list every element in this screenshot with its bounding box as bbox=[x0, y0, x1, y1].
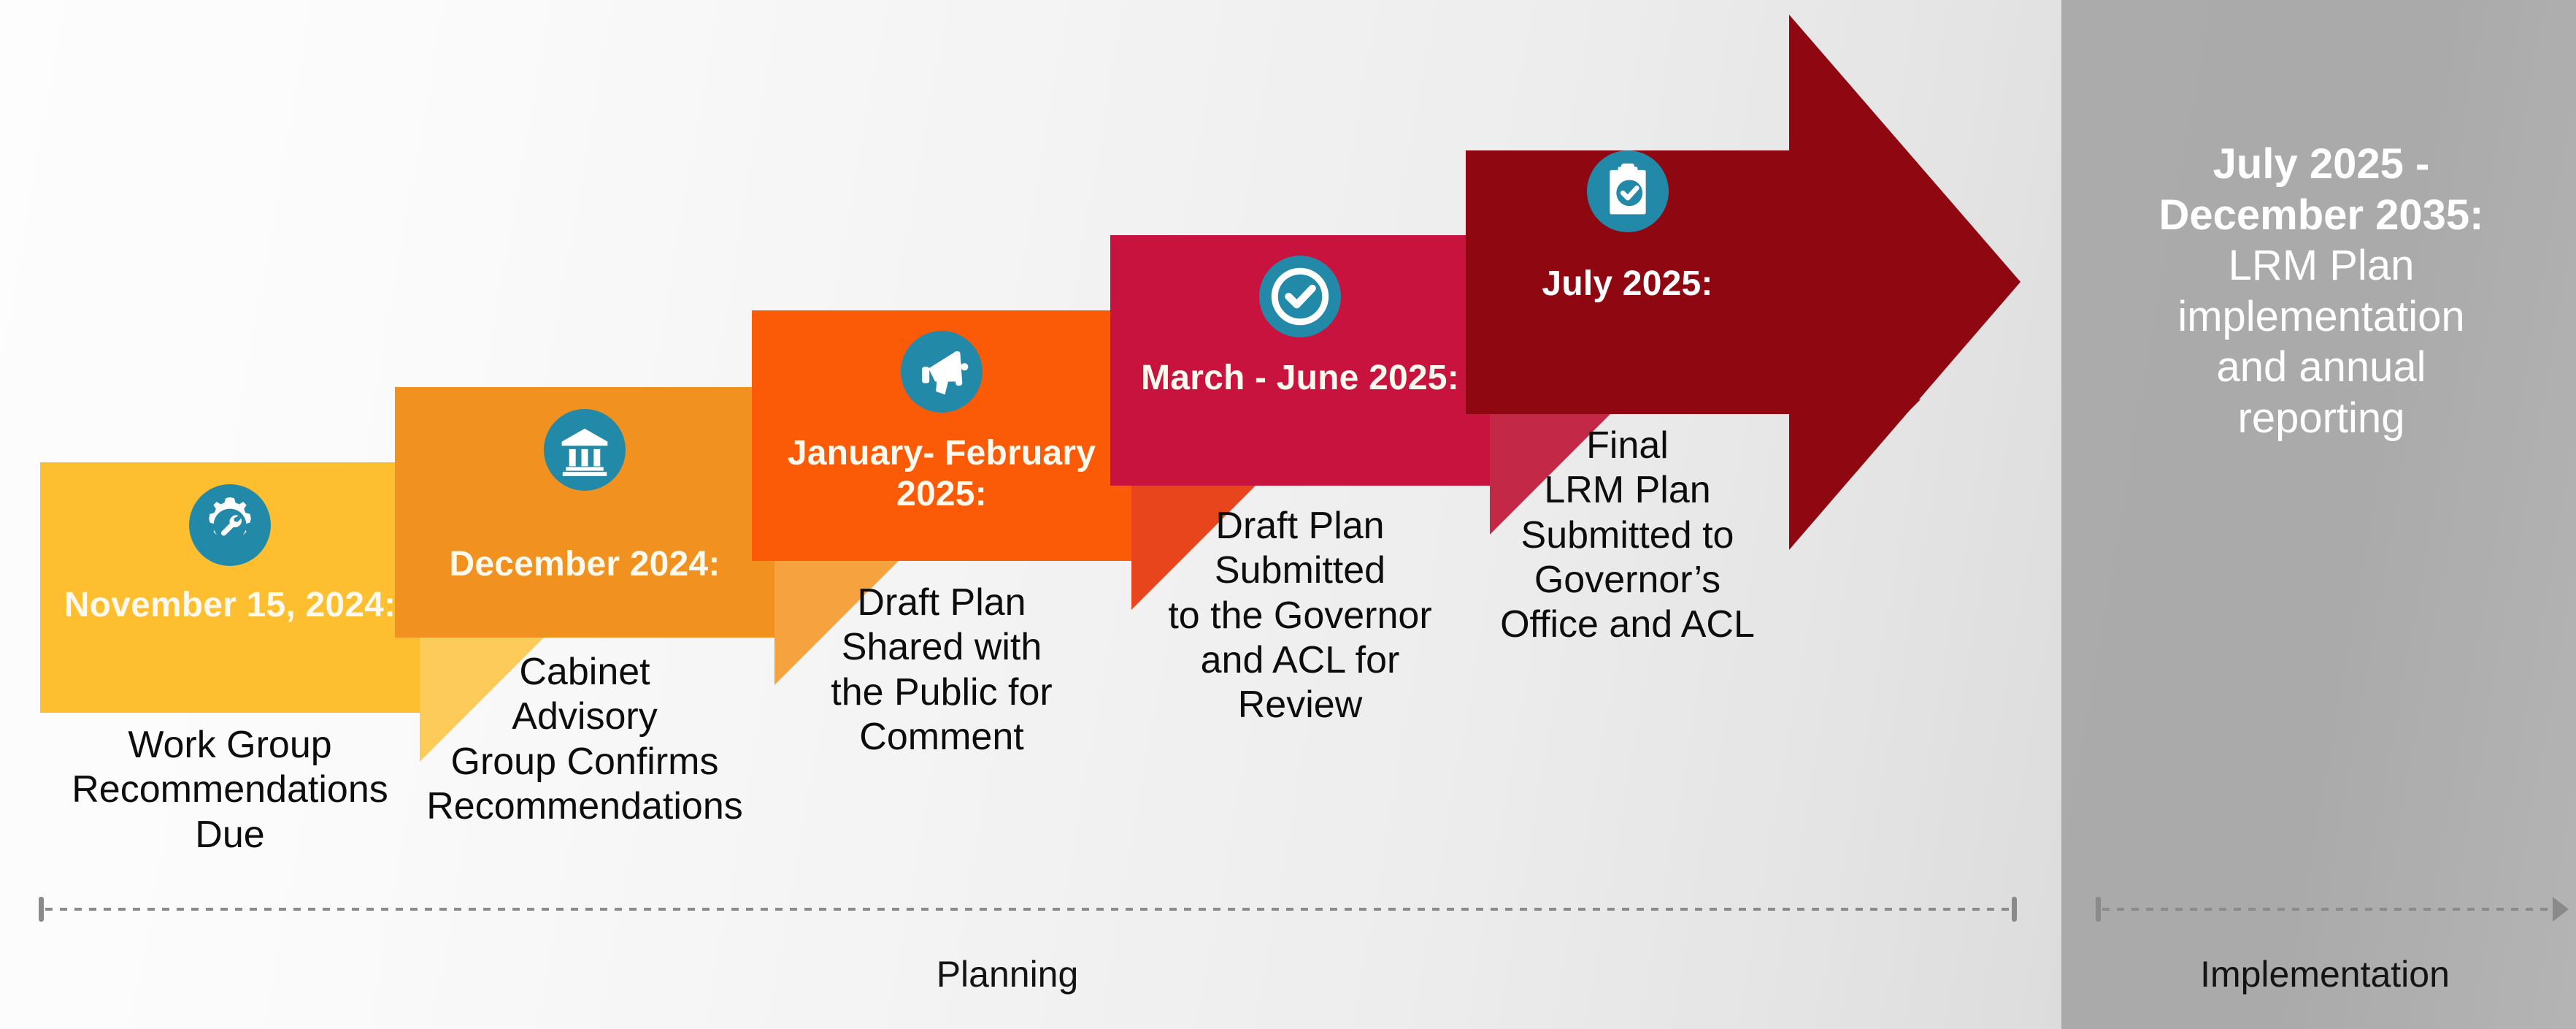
planning-axis-end-cap bbox=[2012, 897, 2017, 922]
government-building-icon bbox=[544, 409, 626, 491]
step-3-description: Draft Plan Shared with the Public for Co… bbox=[752, 581, 1131, 760]
planning-axis-line bbox=[45, 908, 2016, 911]
clipboard-check-icon bbox=[1587, 150, 1669, 232]
check-circle-icon bbox=[1259, 256, 1341, 337]
step-2-panel: December 2024: bbox=[395, 387, 774, 638]
implementation-label: Implementation bbox=[2142, 953, 2507, 995]
timeline-diagram: November 15, 2024: Work Group Recommenda… bbox=[0, 0, 2576, 1029]
timeline-step-2[interactable]: December 2024: bbox=[395, 387, 774, 638]
step-5-title: July 2025: bbox=[1466, 264, 1789, 305]
timeline-step-5[interactable]: July 2025: bbox=[1466, 150, 1789, 414]
planning-label: Planning bbox=[843, 953, 1172, 995]
planning-axis-start-cap bbox=[39, 897, 44, 922]
step-1-panel: November 15, 2024: bbox=[40, 462, 420, 713]
step-3-panel: January- February 2025: bbox=[752, 310, 1131, 561]
step-5-description: Final LRM Plan Submitted to Governor’s O… bbox=[1466, 424, 1789, 648]
step-5-panel: July 2025: bbox=[1466, 150, 1789, 414]
timeline-step-3[interactable]: January- February 2025: bbox=[752, 310, 1131, 561]
timeline-step-4[interactable]: March - June 2025: bbox=[1110, 235, 1490, 486]
step-3-title: January- February 2025: bbox=[752, 433, 1131, 515]
step-2-description: Cabinet Advisory Group Confirms Recommen… bbox=[395, 650, 774, 829]
step-4-panel: March - June 2025: bbox=[1110, 235, 1490, 486]
implementation-summary: July 2025 - December 2035: LRM Plan impl… bbox=[2088, 139, 2555, 444]
step-2-title: December 2024: bbox=[395, 544, 774, 585]
implementation-axis-line bbox=[2102, 908, 2555, 911]
gear-wrench-icon bbox=[189, 484, 271, 566]
step-1-description: Work Group Recommendations Due bbox=[40, 723, 420, 857]
step-1-title: November 15, 2024: bbox=[40, 585, 420, 626]
step-4-title: March - June 2025: bbox=[1110, 358, 1490, 399]
megaphone-icon bbox=[901, 331, 983, 413]
implementation-axis-start-cap bbox=[2096, 897, 2101, 922]
implementation-axis-arrowhead bbox=[2553, 897, 2569, 922]
implementation-title: July 2025 - December 2035: bbox=[2088, 139, 2555, 240]
step-4-description: Draft Plan Submitted to the Governor and… bbox=[1110, 504, 1490, 728]
implementation-body: LRM Plan implementation and annual repor… bbox=[2088, 240, 2555, 443]
timeline-step-1[interactable]: November 15, 2024: bbox=[40, 462, 420, 713]
